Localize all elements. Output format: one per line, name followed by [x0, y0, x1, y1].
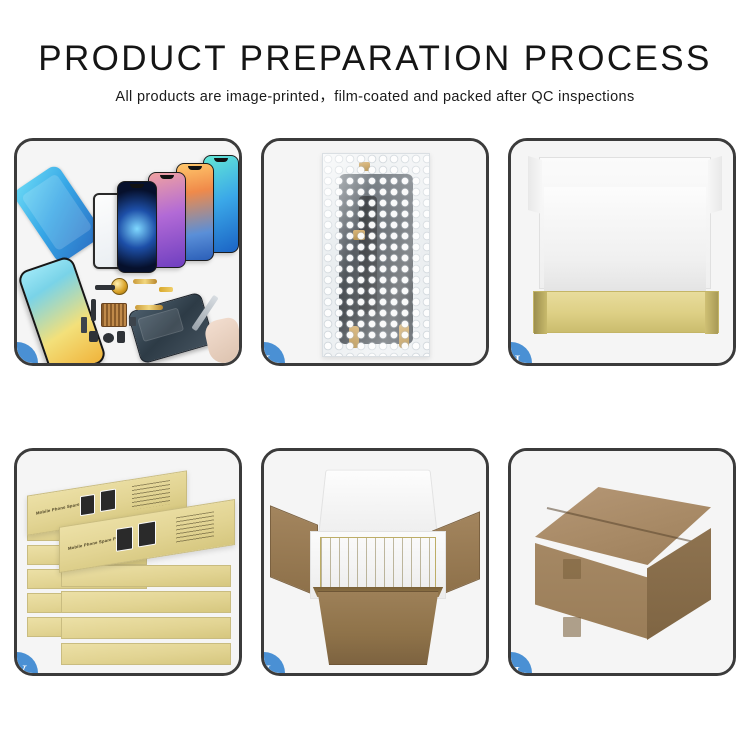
page-title: PRODUCT PREPARATION PROCESS — [0, 38, 750, 80]
panel-carton-with-foam: V — [261, 448, 489, 676]
tape-strip — [563, 559, 581, 579]
box-stack: Mobile Phone Spare Parts Mobile Phone Sp… — [25, 469, 237, 665]
box-top — [62, 644, 230, 664]
step-badge-5: V — [264, 652, 285, 673]
stacked-box — [61, 617, 231, 639]
stacked-box — [61, 643, 231, 665]
flex-cable-part — [133, 279, 157, 284]
carton-body — [306, 591, 450, 665]
box-top — [62, 566, 230, 586]
page-subtitle: All products are image-printed，film-coat… — [0, 87, 750, 107]
kraft-boxes-inside — [320, 537, 436, 591]
box-label-phone-image — [116, 526, 133, 552]
tape-strip — [563, 617, 581, 637]
kraft-box-front — [533, 291, 719, 333]
panel-image-v: V — [264, 451, 486, 673]
spare-part — [89, 331, 98, 342]
spare-part — [129, 317, 136, 326]
notch-icon — [160, 175, 174, 179]
panel-image-iii: III — [511, 141, 733, 363]
step-badge-6: VI — [511, 652, 532, 673]
panel-sealed-carton: VI — [508, 448, 736, 676]
header: PRODUCT PREPARATION PROCESS All products… — [0, 0, 750, 107]
panel-image-vi: VI — [511, 451, 733, 673]
panel-image-ii: II — [264, 141, 486, 363]
gold-contact-part — [159, 287, 173, 292]
product-preparation-infographic: PRODUCT PREPARATION PROCESS All products… — [0, 0, 750, 750]
phone-chassis-disassembled — [127, 292, 215, 363]
white-foam-sheet — [544, 187, 706, 291]
speaker-part — [103, 333, 114, 343]
foam-lid-open — [318, 470, 438, 537]
technician-hand — [203, 316, 239, 363]
panel-phone-parts: I — [14, 138, 242, 366]
spare-part — [81, 317, 87, 333]
connector-grid-part — [101, 303, 127, 327]
box-top — [62, 592, 230, 612]
box-label-phone-image — [138, 521, 156, 548]
spare-part — [95, 285, 115, 290]
panel-bubble-wrapped-part: II — [261, 138, 489, 366]
panel-stacked-boxes: Mobile Phone Spare Parts Mobile Phone Sp… — [14, 448, 242, 676]
step-badge-1: I — [17, 342, 38, 363]
box-label-phone-image — [80, 494, 95, 516]
phone-screen-1 — [117, 181, 157, 273]
panel-image-iv: Mobile Phone Spare Parts Mobile Phone Sp… — [17, 451, 239, 673]
notch-icon — [130, 184, 144, 188]
step-badge-2: II — [264, 342, 285, 363]
box-top — [62, 618, 230, 638]
panel-image-i: I — [17, 141, 239, 363]
spare-part — [91, 299, 96, 321]
stacked-box — [61, 591, 231, 613]
process-step-grid: I II — [14, 138, 736, 676]
notch-icon — [188, 166, 202, 170]
flex-cable-part — [135, 305, 163, 310]
box-label-phone-image — [100, 489, 116, 513]
step-badge-3: III — [511, 342, 532, 363]
plastic-sheen — [323, 154, 429, 356]
spare-part — [117, 331, 125, 343]
notch-icon — [214, 158, 228, 162]
panel-open-inner-box: III — [508, 138, 736, 366]
bubble-wrap-bag — [322, 153, 430, 357]
screen-film-blue — [17, 163, 104, 264]
